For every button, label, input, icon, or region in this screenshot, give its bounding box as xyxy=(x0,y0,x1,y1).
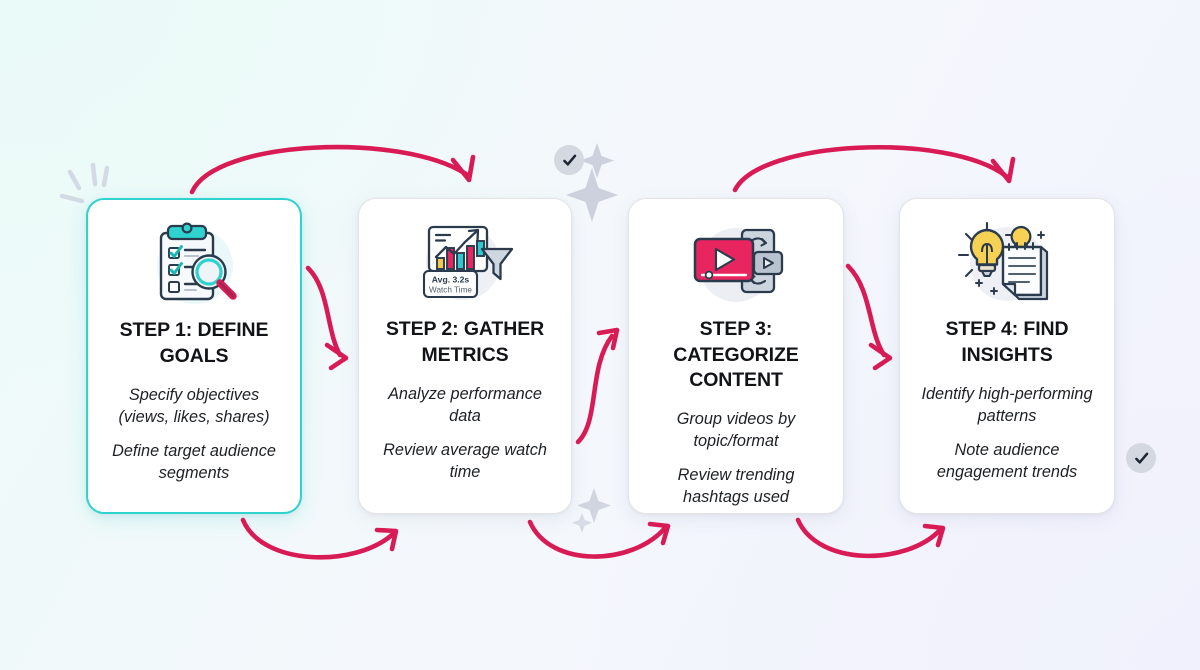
radiating-dashes-icon xyxy=(62,165,107,201)
step-card-4[interactable]: STEP 4: FIND INSIGHTS Identify high-perf… xyxy=(899,198,1115,514)
step-card-line: Define target audience segments xyxy=(104,440,284,485)
connector-arrow-mid-1-2 xyxy=(308,268,346,368)
step-card-description: Specify objectives (views, likes, shares… xyxy=(104,384,284,485)
step-card-1[interactable]: STEP 1: DEFINE GOALS Specify objectives … xyxy=(86,198,302,514)
check-badge xyxy=(1126,443,1156,473)
step-card-description: Identify high-performing patterns Note a… xyxy=(916,383,1098,484)
check-icon xyxy=(561,152,578,169)
step-card-title: STEP 3: CATEGORIZE CONTENT xyxy=(645,317,827,394)
icon-metric-label: Watch Time xyxy=(429,286,472,295)
step-card-line: Note audience engagement trends xyxy=(916,439,1098,484)
step-card-description: Analyze performance data Review average … xyxy=(375,383,555,484)
step-card-3[interactable]: STEP 3: CATEGORIZE CONTENT Group videos … xyxy=(628,198,844,514)
step-card-line: Group videos by topic/format xyxy=(645,408,827,453)
connector-arrow-bottom-3-4 xyxy=(798,520,943,556)
step-card-title: STEP 4: FIND INSIGHTS xyxy=(916,317,1098,369)
connector-arrow-mid-2-3 xyxy=(578,330,617,442)
step-card-2[interactable]: Avg. 3.2s Watch Time STEP 2: GATHER METR… xyxy=(358,198,572,514)
lightbulb-notepad-icon xyxy=(953,221,1061,307)
connector-arrow-top-1-2 xyxy=(192,147,473,192)
check-icon xyxy=(1133,450,1150,467)
step-card-title: STEP 1: DEFINE GOALS xyxy=(104,318,284,370)
connector-arrow-bottom-2-3 xyxy=(530,522,668,557)
step-card-line: Review average watch time xyxy=(375,439,555,484)
step-card-description: Group videos by topic/format Review tren… xyxy=(645,408,827,509)
video-player-cards-icon xyxy=(682,221,790,307)
infographic-canvas: STEP 1: DEFINE GOALS Specify objectives … xyxy=(0,0,1200,670)
icon-metric-value: Avg. 3.2s xyxy=(432,275,470,285)
step-card-title: STEP 2: GATHER METRICS xyxy=(375,317,555,369)
connector-arrow-top-3-4 xyxy=(735,147,1013,190)
sparkle-icon-group xyxy=(566,143,618,533)
clipboard-checklist-magnifier-icon xyxy=(140,222,248,308)
connector-arrow-bottom-1-2 xyxy=(243,520,396,557)
step-card-line: Review trending hashtags used xyxy=(645,464,827,509)
connector-arrow-mid-3-4 xyxy=(848,266,890,368)
step-card-line: Analyze performance data xyxy=(375,383,555,428)
step-card-line: Identify high-performing patterns xyxy=(916,383,1098,428)
bar-chart-trendline-funnel-icon: Avg. 3.2s Watch Time xyxy=(411,221,519,307)
check-badge xyxy=(554,145,584,175)
step-card-line: Specify objectives (views, likes, shares… xyxy=(104,384,284,429)
